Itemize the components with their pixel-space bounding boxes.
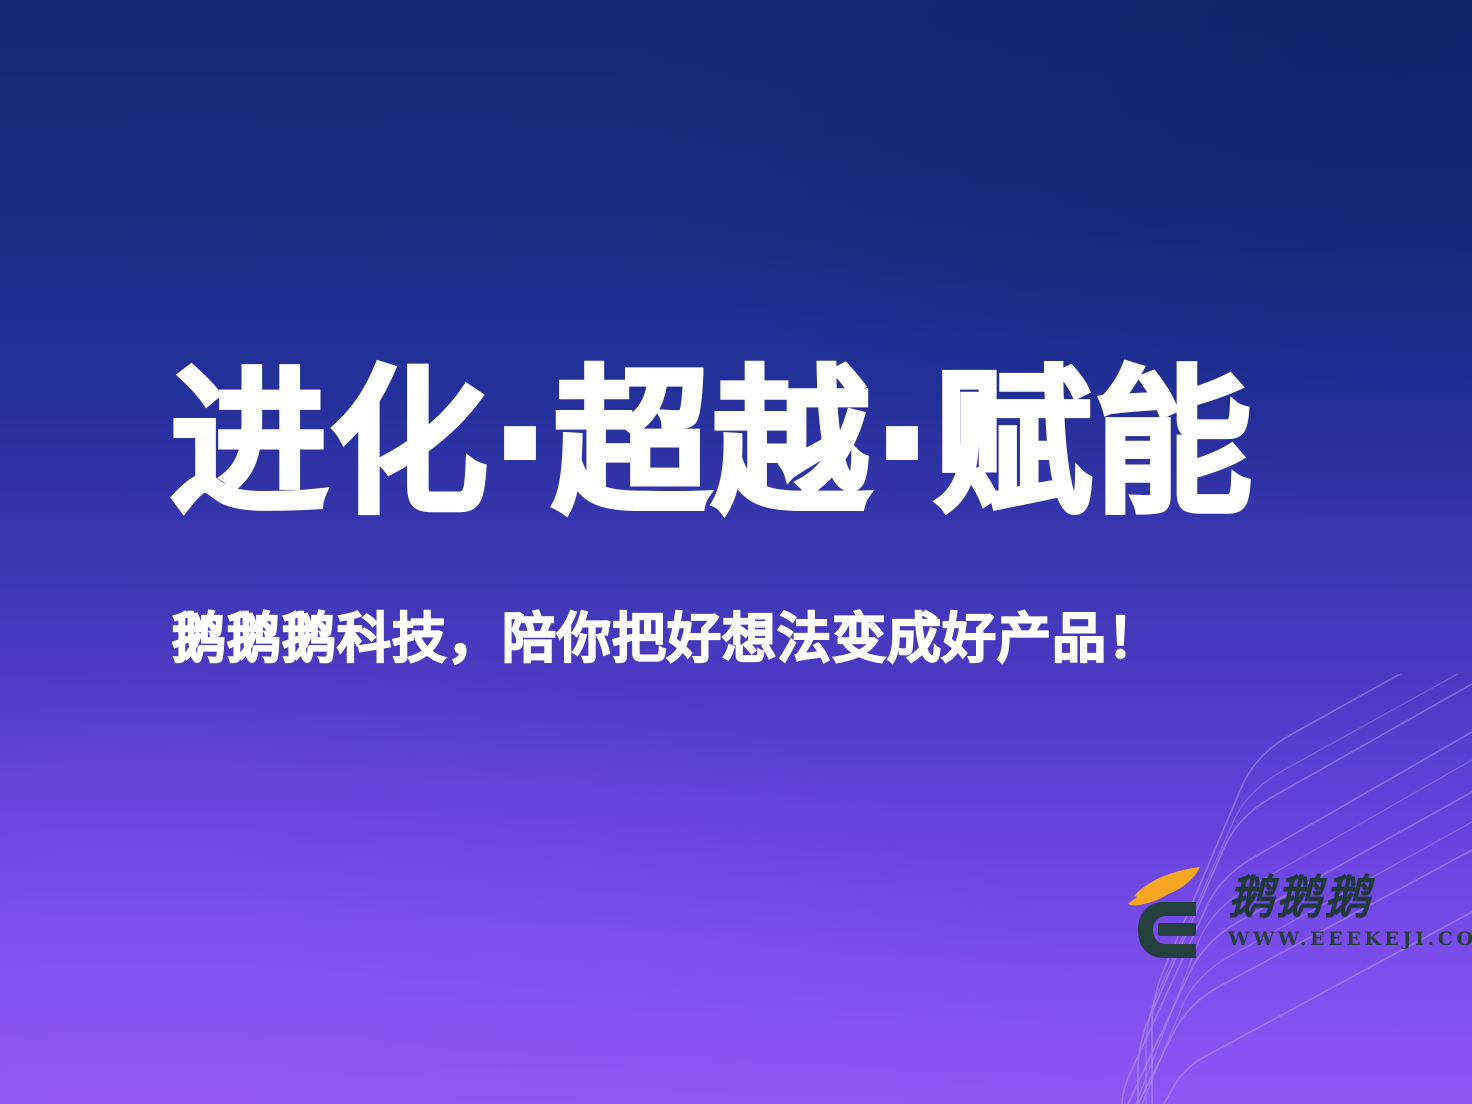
page-subtitle: 鹅鹅鹅科技，陪你把好想法变成好产品！ (172, 608, 1162, 670)
brand-logo: 鹅鹅鹅 WWW.EEEKEJI.COM (1122, 862, 1472, 964)
page-title: 进化·超越·赋能 (170, 362, 1270, 526)
poster-canvas: 进化·超越·赋能 鹅鹅鹅科技，陪你把好想法变成好产品！ 鹅鹅鹅 WWW.EEEK… (0, 0, 1472, 1104)
flame-e-icon (1122, 864, 1214, 964)
brand-website-url: WWW.EEEKEJI.COM (1228, 930, 1472, 949)
brand-name-cn: 鹅鹅鹅 (1228, 874, 1372, 920)
logo-text-block: 鹅鹅鹅 WWW.EEEKEJI.COM (1228, 874, 1472, 949)
